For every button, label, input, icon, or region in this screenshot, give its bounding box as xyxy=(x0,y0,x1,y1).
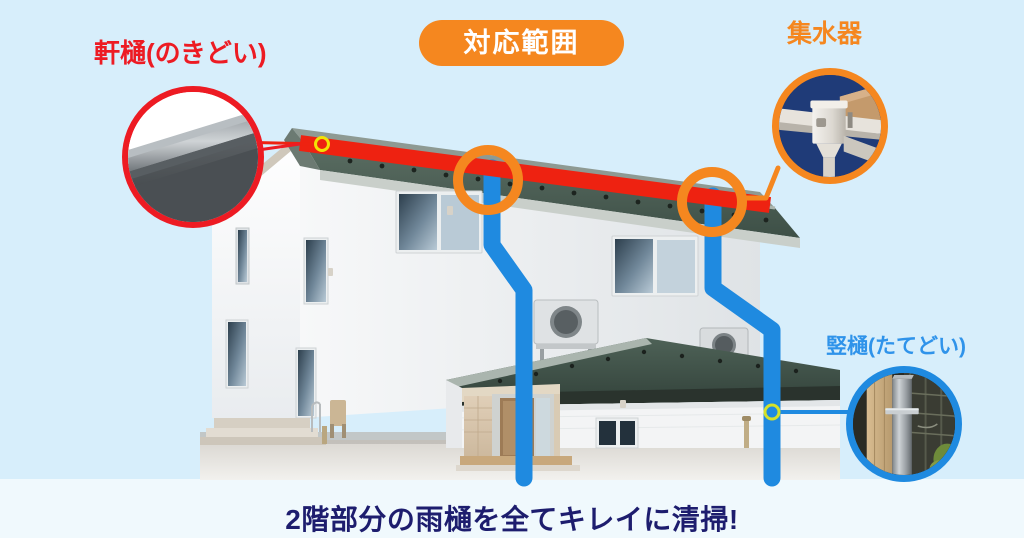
callout-circle-tatedoi[interactable] xyxy=(846,366,962,482)
label-nokidoi: 軒樋(のきどい) xyxy=(94,40,267,66)
callout-photo-tatedoi xyxy=(853,373,955,475)
scope-badge: 対応範囲 xyxy=(419,20,624,66)
connector-line-nokidoi xyxy=(258,144,300,150)
callout-photo-nokidoi xyxy=(128,92,258,222)
label-tatedoi: 竪樋(たてどい) xyxy=(826,336,966,357)
callout-photo-shusuiki xyxy=(779,75,881,177)
infographic-canvas: 軒樋(のきどい) 集水器 竪樋(たてどい) 対応範囲 2階部分の雨樋を全てキレイ… xyxy=(0,0,1024,538)
downspout-highlight-left xyxy=(492,168,524,478)
bottom-caption: 2階部分の雨樋を全てキレイに清掃! xyxy=(0,498,1024,538)
label-shusuiki: 集水器 xyxy=(787,22,862,47)
scope-badge-label: 対応範囲 xyxy=(464,30,580,57)
callout-circle-shusuiki[interactable] xyxy=(772,68,888,184)
callout-circle-nokidoi[interactable] xyxy=(122,86,264,228)
downspout-highlight-right xyxy=(713,196,772,478)
